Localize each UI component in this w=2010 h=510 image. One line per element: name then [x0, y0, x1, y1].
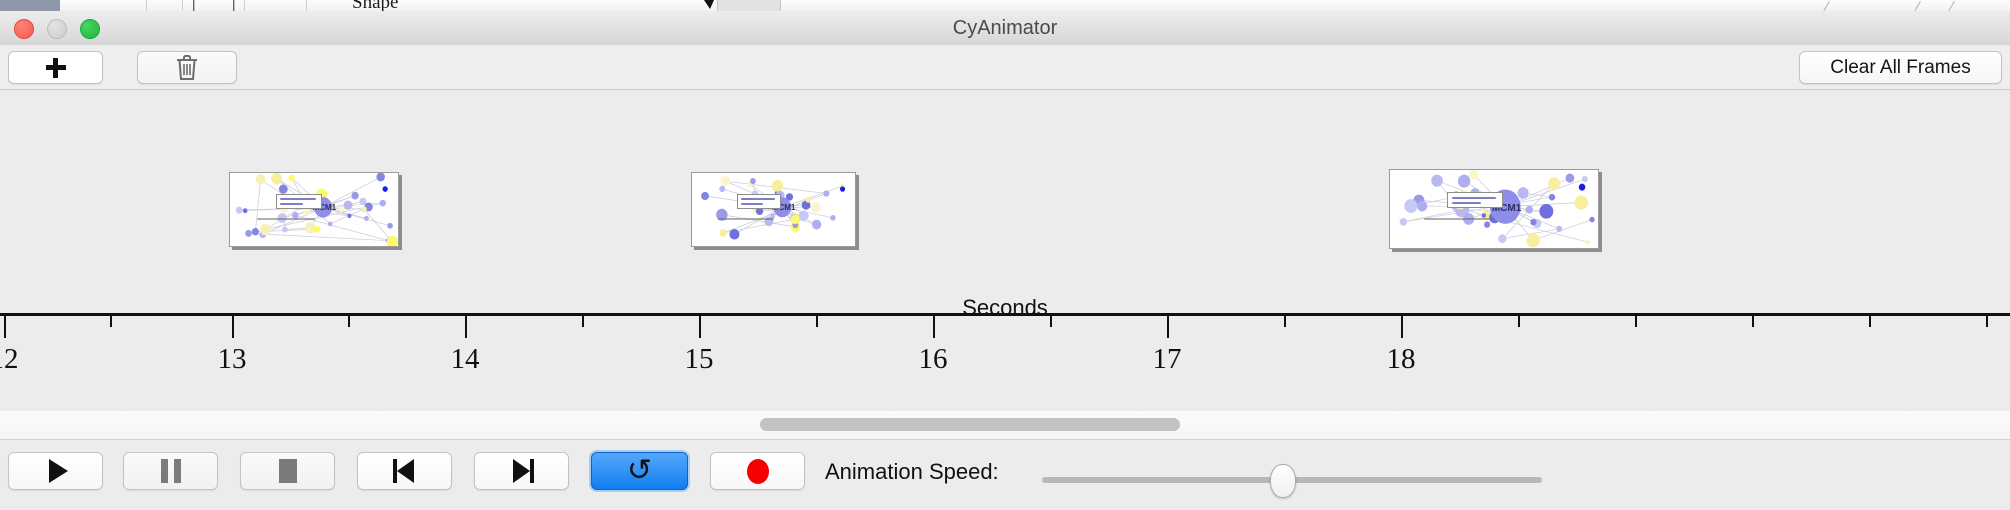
next-frame-button[interactable]	[474, 452, 569, 490]
background-greybox	[717, 0, 781, 11]
animation-speed-label: Animation Speed:	[825, 459, 999, 485]
pause-icon	[161, 459, 181, 483]
title-bar[interactable]: CyAnimator	[0, 11, 2010, 46]
axis-tick-label: 17	[1107, 343, 1227, 376]
add-frame-button[interactable]	[8, 51, 103, 84]
loop-icon: ↻	[627, 456, 652, 486]
clear-all-frames-label: Clear All Frames	[1830, 57, 1970, 79]
animation-speed-slider-thumb[interactable]	[1270, 464, 1296, 498]
node-callout	[737, 194, 782, 209]
skip-back-icon	[393, 459, 417, 483]
background-divider	[182, 0, 183, 11]
play-icon	[49, 459, 68, 483]
background-cursor-wedge	[704, 0, 714, 9]
transport-bar: ↻ Animation Speed:	[0, 440, 2010, 510]
annotation-text	[718, 218, 774, 220]
axis-tick-label: 12	[0, 343, 64, 376]
frame-thumbnail-2[interactable]: MCM1	[691, 172, 856, 247]
stop-button[interactable]	[240, 452, 335, 490]
background-divider	[244, 0, 245, 11]
annotation-text	[257, 218, 315, 220]
pause-button[interactable]	[123, 452, 218, 490]
axis-title: Seconds	[0, 295, 2010, 321]
axis-tick-label: 18	[1341, 343, 1461, 376]
stop-icon	[279, 459, 297, 483]
trash-icon	[175, 54, 199, 81]
background-window-chip	[0, 0, 60, 11]
delete-frame-button[interactable]	[137, 51, 237, 84]
frame-thumbnail-3[interactable]: MCM1	[1389, 169, 1599, 249]
axis-tick-label: 16	[873, 343, 993, 376]
timeline-panel[interactable]: MCM1MCM1MCM1 12131415161718 Seconds	[0, 90, 2010, 412]
background-divider	[146, 0, 147, 11]
loop-button[interactable]: ↻	[591, 452, 688, 490]
frame-thumbnail-1[interactable]: MCM1	[229, 172, 399, 247]
background-divider	[306, 0, 307, 11]
scrollbar-thumb[interactable]	[760, 418, 1180, 431]
play-button[interactable]	[8, 452, 103, 490]
node-callout	[276, 194, 322, 209]
axis-tick-label: 13	[172, 343, 292, 376]
node-callout	[1447, 192, 1504, 208]
plus-icon	[45, 57, 67, 79]
window-title: CyAnimator	[0, 11, 2010, 45]
axis-tick-label: 15	[639, 343, 759, 376]
cyanimator-window: | | Shape CyAnimator Cle	[0, 0, 2010, 510]
previous-frame-button[interactable]	[357, 452, 452, 490]
skip-forward-icon	[510, 459, 534, 483]
annotation-text	[1424, 218, 1495, 220]
frame-toolbar: Clear All Frames	[0, 45, 2010, 90]
axis-tick-label: 14	[405, 343, 525, 376]
record-button[interactable]	[710, 452, 805, 490]
record-icon	[747, 459, 769, 484]
timeline-scrollbar[interactable]	[0, 411, 2010, 440]
clear-all-frames-button[interactable]: Clear All Frames	[1799, 51, 2002, 84]
